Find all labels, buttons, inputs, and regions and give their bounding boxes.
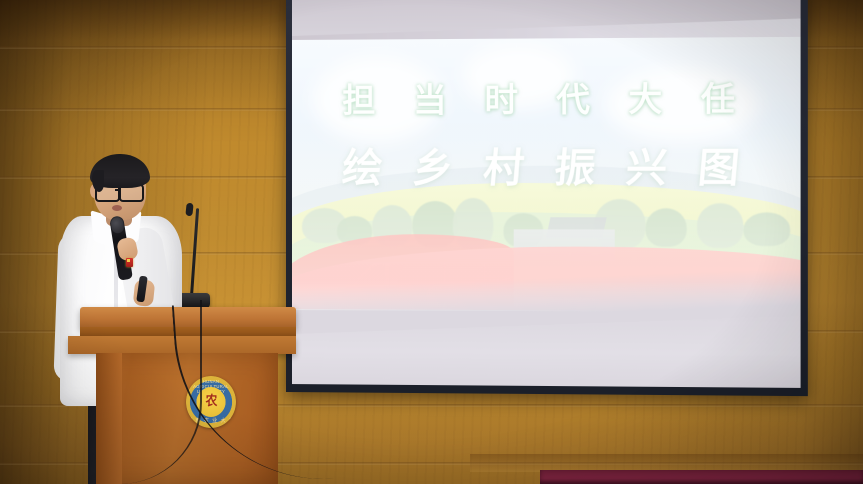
projection-screen-surface: 担 当 时 代 大 任 绘 乡 村 振 兴 图: [292, 0, 801, 388]
maroon-accent-strip: [540, 470, 863, 484]
seal-glyph: 农: [206, 395, 217, 408]
projection-screen-frame: 担 当 时 代 大 任 绘 乡 村 振 兴 图: [286, 0, 808, 396]
speaker-hair: [90, 154, 150, 188]
speaker-mouth: [112, 205, 122, 211]
photo-scene: 担 当 时 代 大 任 绘 乡 村 振 兴 图: [0, 0, 863, 484]
screen-lower-washout: [292, 310, 801, 388]
party-emblem-pin: [126, 258, 133, 267]
